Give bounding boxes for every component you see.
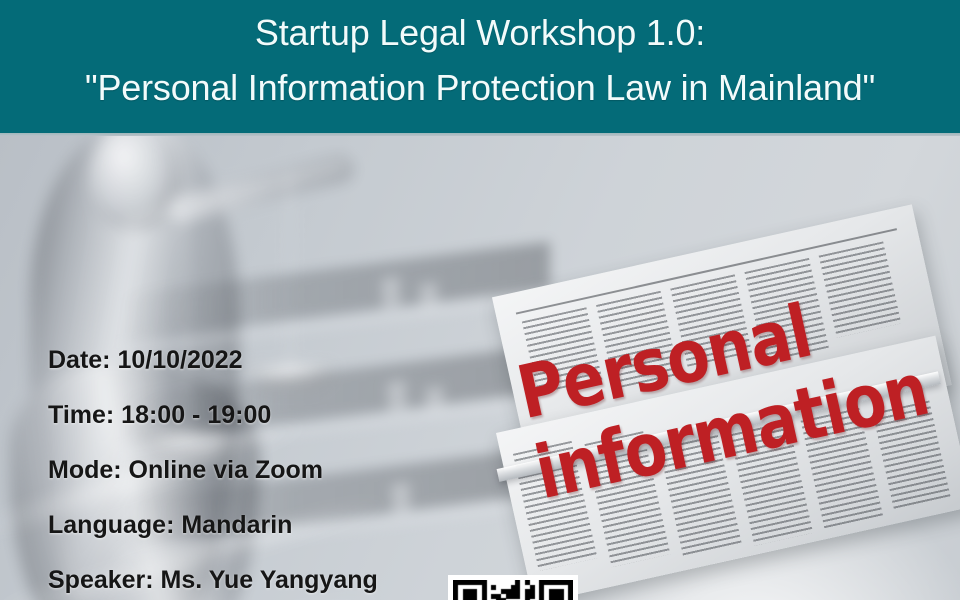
header-underline (0, 133, 960, 136)
book-mark (419, 282, 439, 315)
page-title-line-1: Startup Legal Workshop 1.0: (0, 11, 960, 55)
detail-line-time: Time: 18:00 - 19:00 (48, 388, 478, 443)
header-banner: Startup Legal Workshop 1.0: "Personal In… (0, 0, 960, 133)
qr-code-canvas[interactable] (453, 580, 573, 600)
detail-line-speaker: Speaker: Ms. Yue Yangyang (48, 553, 478, 600)
qr-code-icon[interactable] (453, 580, 573, 600)
book-mark (381, 276, 401, 309)
detail-line-mode: Mode: Online via Zoom (48, 443, 478, 498)
detail-line-date: Date: 10/10/2022 (48, 333, 478, 388)
enrolment-qr-block[interactable]: Enrol Now!! (450, 580, 576, 600)
page-title-line-2: "Personal Information Protection Law in … (0, 66, 960, 110)
detail-line-language: Language: Mandarin (48, 498, 478, 553)
event-details-list: Date: 10/10/2022 Time: 18:00 - 19:00 Mod… (48, 333, 478, 600)
background-photo: Personal information Date: 10/10/2022 Ti… (0, 133, 960, 600)
poster-canvas: Personal information Date: 10/10/2022 Ti… (0, 0, 960, 600)
